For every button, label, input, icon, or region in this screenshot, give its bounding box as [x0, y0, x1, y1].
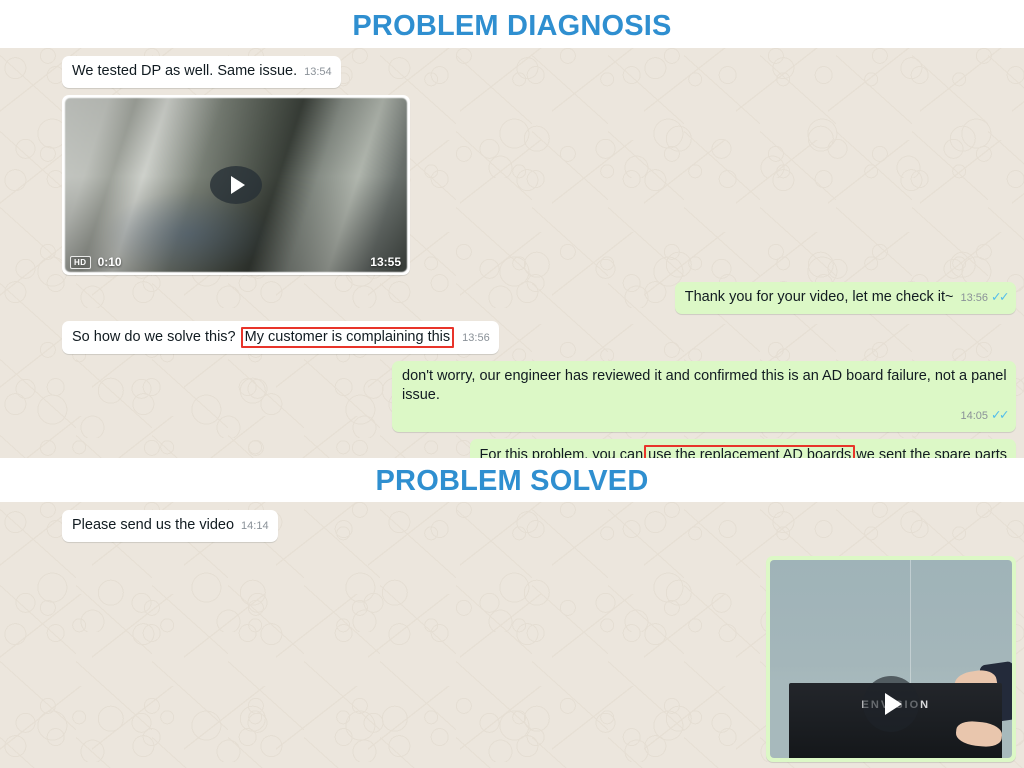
hd-badge-icon: HD	[70, 256, 91, 269]
message-row-replacement: For this problem, you canuse the replace…	[0, 439, 1024, 458]
message-bubble-replacement[interactable]: For this problem, you canuse the replace…	[470, 439, 1016, 458]
double-check-icon: ✓✓	[991, 408, 1007, 422]
section-title-problem-diagnosis: PROBLEM DIAGNOSIS	[0, 0, 1024, 48]
highlight-box-customer-complaining: My customer is complaining this	[241, 327, 455, 348]
video-overlay-bottom-left: HD 0:10	[70, 255, 122, 269]
play-icon[interactable]	[210, 166, 262, 204]
message-text-replacement-after: we sent the spare parts	[856, 447, 1007, 458]
message-time-dont-worry: 14:05✓✓	[402, 406, 1007, 426]
play-icon[interactable]	[863, 676, 919, 732]
message-bubble-dont-worry[interactable]: don't worry, our engineer has reviewed i…	[392, 361, 1016, 432]
message-line-1: For this problem, you canuse the replace…	[480, 445, 1007, 458]
section-title-problem-solved: PROBLEM SOLVED	[0, 458, 1024, 502]
message-text-replacement-before: For this problem, you can	[480, 447, 644, 458]
video-duration-label: 0:10	[98, 255, 122, 269]
message-row-thank-you: Thank you for your video, let me check i…	[0, 282, 1024, 314]
message-text-dont-worry: don't worry, our engineer has reviewed i…	[402, 368, 1007, 403]
double-check-icon: ✓✓	[991, 290, 1007, 304]
message-text-how-solve-before: So how do we solve this?	[72, 329, 236, 345]
message-row-video-2: ENVISION	[0, 556, 1024, 762]
message-row-how-solve: So how do we solve this? My customer is …	[0, 321, 1024, 354]
message-row-video-1: HD 0:10 13:55	[0, 95, 1024, 275]
wall-seam-decor	[910, 560, 911, 683]
video-message-bubble-2[interactable]: ENVISION	[766, 556, 1016, 762]
message-text-thank-you: Thank you for your video, let me check i…	[685, 289, 954, 305]
message-row-send-video: Please send us the video14:14	[0, 510, 1024, 542]
message-bubble-thank-you[interactable]: Thank you for your video, let me check i…	[675, 282, 1016, 314]
message-text-send-video: Please send us the video	[72, 517, 234, 533]
message-row-tested-dp: We tested DP as well. Same issue.13:54	[0, 56, 1024, 88]
message-time-thank-you: 13:56✓✓	[961, 288, 1007, 308]
message-row-dont-worry: don't worry, our engineer has reviewed i…	[0, 361, 1024, 432]
message-bubble-how-solve[interactable]: So how do we solve this? My customer is …	[62, 321, 499, 354]
message-time-how-solve: 13:56	[462, 329, 490, 348]
message-text-tested-dp: We tested DP as well. Same issue.	[72, 63, 297, 79]
chat-panel-diagnosis: We tested DP as well. Same issue.13:54 H…	[0, 48, 1024, 458]
message-bubble-tested-dp[interactable]: We tested DP as well. Same issue.13:54	[62, 56, 341, 88]
message-time-send-video: 14:14	[241, 517, 269, 536]
message-time-tested-dp: 13:54	[304, 63, 332, 82]
video-message-time: 13:55	[370, 255, 401, 269]
chat-panel-solved: Please send us the video14:14 ENVISION	[0, 502, 1024, 768]
video-message-bubble-1[interactable]: HD 0:10 13:55	[62, 95, 410, 275]
message-bubble-send-video[interactable]: Please send us the video14:14	[62, 510, 278, 542]
highlight-box-replacement-ad-boards: use the replacement AD boards	[644, 445, 855, 458]
